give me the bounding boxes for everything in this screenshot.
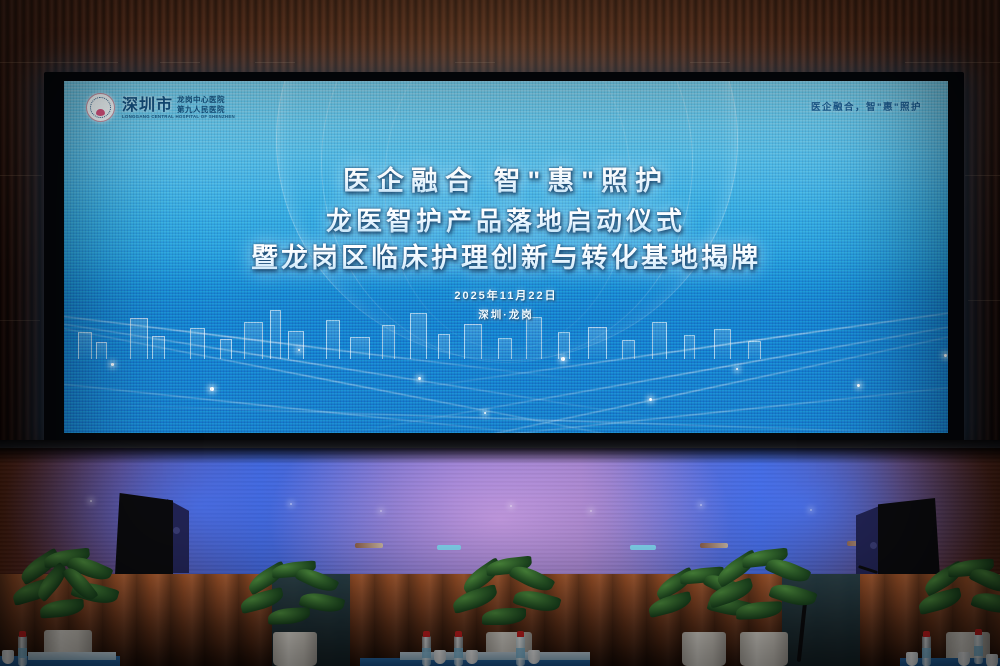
water-bottle [18,636,27,666]
potted-plant [706,548,822,666]
event-title-block: 医企融合 智"惠"照护 龙医智护产品落地启动仪式 暨龙岗区临床护理创新与转化基地… [64,165,948,322]
skyline-building [558,332,570,359]
paper-cup [958,652,970,666]
head-table-top [28,652,116,660]
water-bottle [422,636,431,666]
skyline-building [526,317,542,359]
paper-cup [2,650,14,664]
hospital-logo: 深圳市 龙岗中心医院 第九人民医院 LONGGANG CENTRAL HOSPI… [86,93,235,122]
skyline-building [684,335,695,359]
event-location: 深圳·龙岗 [64,307,948,322]
skyline-building [588,327,607,359]
hospital-emblem-icon [86,93,115,122]
water-bottle [974,634,983,664]
title-line-2: 龙医智护产品落地启动仪式 [64,205,948,238]
logo-english-name: LONGGANG CENTRAL HOSPITAL OF SHENZHEN [122,115,235,119]
led-screen-display: 深圳市 龙岗中心医院 第九人民医院 LONGGANG CENTRAL HOSPI… [64,81,948,433]
skyline-building [748,341,761,359]
title-line-3: 暨龙岗区临床护理创新与转化基地揭牌 [64,242,948,276]
paper-cup [434,650,446,664]
logo-dept-line2: 第九人民医院 [177,105,225,114]
skyline-building [498,338,512,359]
conference-hall-photo: 深圳市 龙岗中心医院 第九人民医院 LONGGANG CENTRAL HOSPI… [0,0,1000,666]
potted-plant [240,562,350,666]
paper-cup [466,650,478,664]
potted-plant [10,548,126,666]
water-bottle [922,636,931,666]
skyline-building [464,324,482,359]
paper-cup [906,652,918,666]
title-line-1: 医企融合 智"惠"照护 [64,165,948,199]
water-bottle [516,636,525,666]
skyline-building [326,320,340,359]
paper-cup [528,650,540,664]
logo-city-name: 深圳市 [122,98,173,114]
skyline-building [96,342,107,359]
paper-cup [986,654,998,666]
water-bottle [454,636,463,666]
skyline-building [78,332,92,359]
skyline-building [382,325,395,359]
skyline-building [438,334,450,359]
led-screen-bezel: 深圳市 龙岗中心医院 第九人民医院 LONGGANG CENTRAL HOSPI… [44,72,964,448]
event-date: 2025年11月22日 [64,287,948,303]
stage-monitor-speaker-left [115,493,195,578]
skyline-building [350,337,370,359]
screen-header: 深圳市 龙岗中心医院 第九人民医院 LONGGANG CENTRAL HOSPI… [64,81,948,129]
logo-dept-line1: 龙岗中心医院 [177,95,225,104]
header-slogan: 医企融合，智"惠"照护 [811,99,922,113]
